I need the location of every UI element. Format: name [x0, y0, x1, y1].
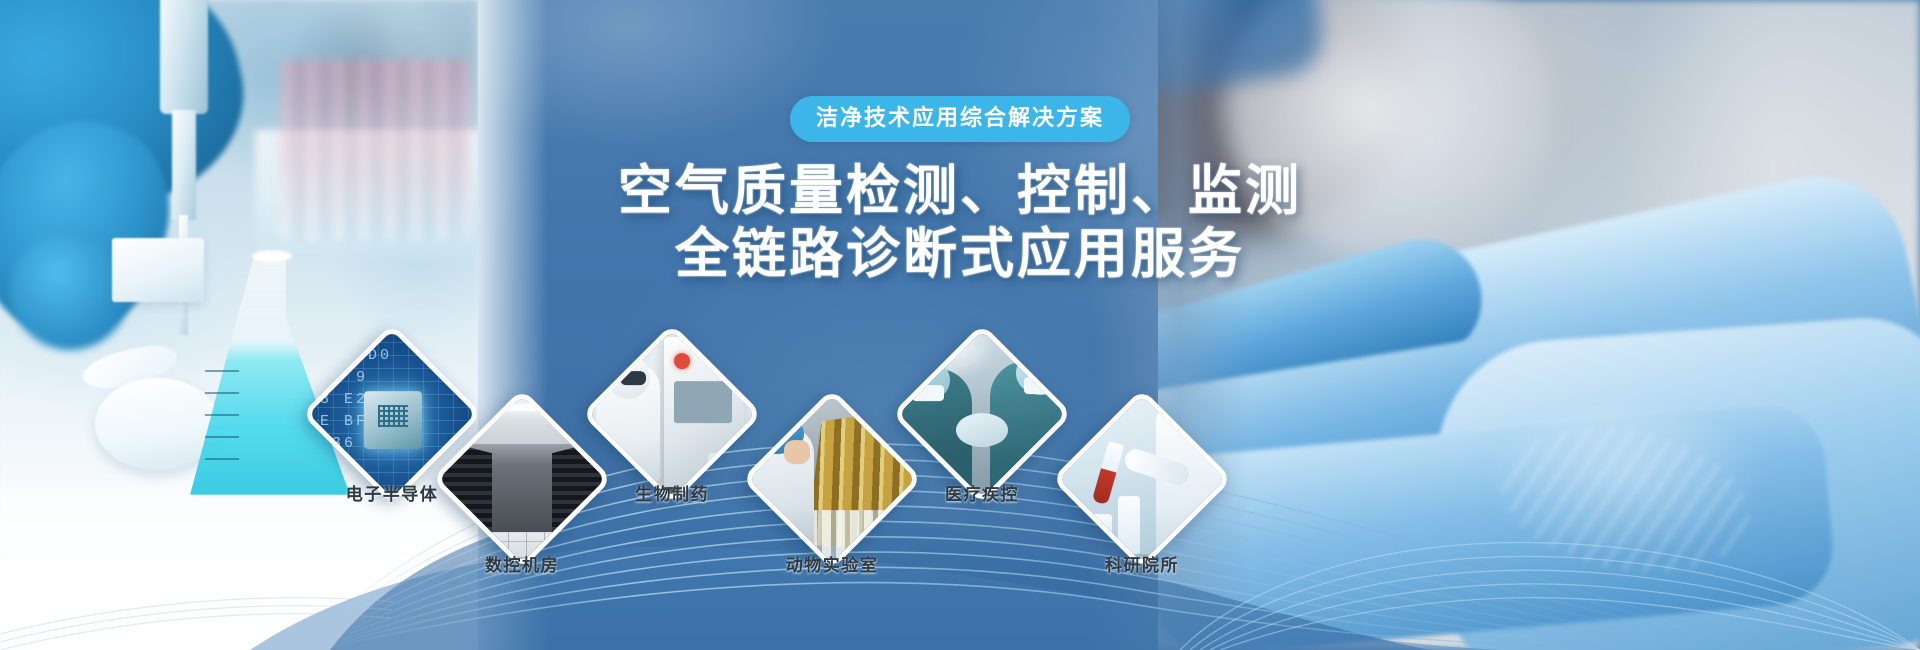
card-server-room[interactable]: 数控机房 [458, 415, 586, 543]
research-institute-icon [1051, 388, 1232, 569]
pipette-top [160, 0, 208, 114]
tagline-badge: 洁净技术应用综合解决方案 [790, 96, 1130, 142]
card-research-institute[interactable]: 科研院所 [1078, 415, 1206, 543]
hero-banner: 洁净技术应用综合解决方案 空气质量检测、控制、监测 全链路诊断式应用服务 E29… [0, 0, 1920, 650]
card-label: 科研院所 [1032, 551, 1252, 576]
card-diamond-frame [431, 388, 612, 569]
card-animal-lab[interactable]: 动物实验室 [768, 415, 896, 543]
card-label: 数控机房 [412, 551, 632, 576]
card-medical-cdc[interactable]: 医疗疾控 [918, 350, 1046, 478]
card-diamond-frame [581, 323, 762, 504]
server-room-icon [431, 388, 612, 569]
card-diamond-frame [741, 388, 922, 569]
biopharma-icon [581, 323, 762, 504]
animal-lab-icon [741, 388, 922, 569]
pipette-body [172, 110, 196, 220]
card-diamond-frame [891, 323, 1072, 504]
card-semiconductor[interactable]: E29 F D05926 97 8 E20 E BF37 936 A 电子半导体 [328, 350, 456, 478]
headline-line-1: 空气质量检测、控制、监测 [618, 161, 1302, 221]
card-biopharma[interactable]: 生物制药 [608, 350, 736, 478]
card-label: 动物实验室 [722, 551, 942, 576]
card-diamond-frame [1051, 388, 1232, 569]
medical-cdc-icon [891, 323, 1072, 504]
test-tubes-blur [280, 60, 470, 240]
industry-card-row: E29 F D05926 97 8 E20 E BF37 936 A 电子半导体… [0, 230, 1920, 650]
